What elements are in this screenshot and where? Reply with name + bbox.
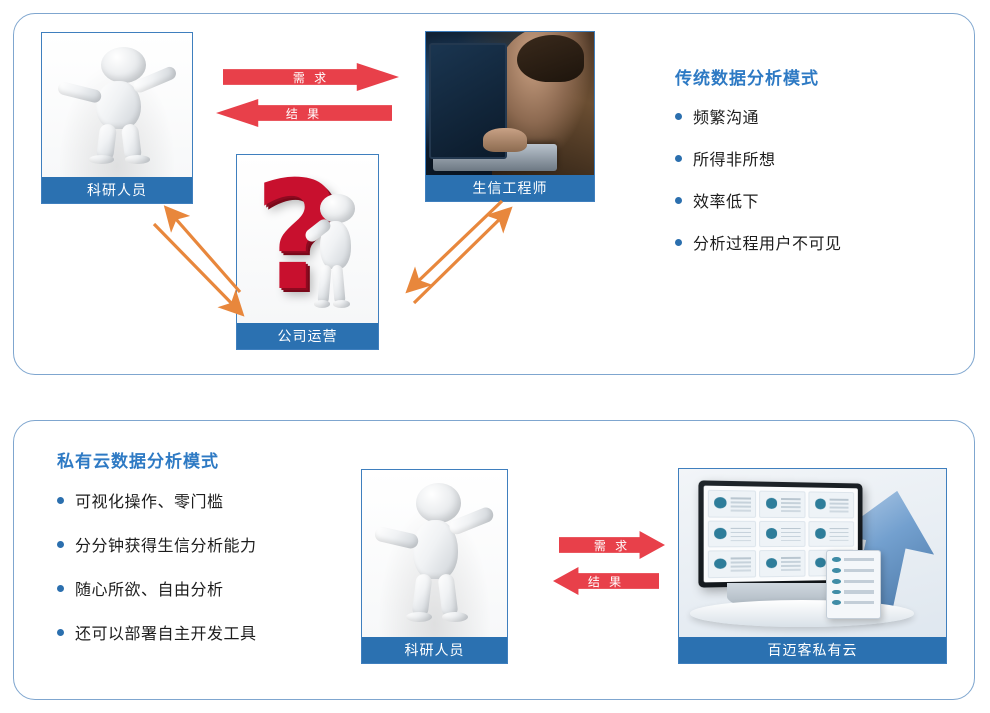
card-caption: 百迈客私有云: [679, 637, 946, 663]
engineer-photo: 10 1 0 1 0 1 0 1 0 1 0 1 0: [426, 32, 594, 175]
list-item-label: 还可以部署自主开发工具: [75, 620, 257, 644]
cloud-title: 私有云数据分析模式: [57, 447, 357, 472]
mannequin-figure-icon: [42, 33, 192, 177]
list-item-label: 分析过程用户不可见: [693, 230, 842, 254]
traditional-bullet-list: 频繁沟通 所得非所想 效率低下 分析过程用户不可见: [675, 95, 945, 263]
card-caption: 公司运营: [237, 323, 378, 349]
cloud-bullet-list: 可视化操作、零门槛 分分钟获得生信分析能力 随心所欲、自由分析 还可以部署自主开…: [57, 478, 357, 654]
list-item: 分析过程用户不可见: [675, 221, 945, 263]
card-caption: 科研人员: [362, 637, 507, 663]
researcher-illustration: [42, 33, 192, 177]
list-item: 频繁沟通: [675, 95, 945, 137]
card-researcher-top[interactable]: 科研人员: [41, 32, 193, 204]
list-item: 还可以部署自主开发工具: [57, 610, 357, 654]
card-caption: 科研人员: [42, 177, 192, 203]
bullet-dot-icon: [57, 585, 64, 592]
traditional-title: 传统数据分析模式: [675, 64, 945, 89]
list-item: 可视化操作、零门槛: [57, 478, 357, 522]
list-item-label: 随心所欲、自由分析: [75, 576, 224, 600]
bullet-dot-icon: [57, 629, 64, 636]
card-caption: 生信工程师: [426, 175, 594, 201]
bullet-dot-icon: [675, 239, 682, 246]
list-item: 分分钟获得生信分析能力: [57, 522, 357, 566]
tablet-icon: [826, 550, 881, 619]
list-item: 随心所欲、自由分析: [57, 566, 357, 610]
private-cloud-illustration: [679, 469, 946, 637]
mannequin-thinking-icon: [299, 189, 378, 320]
private-cloud-analysis-panel: 私有云数据分析模式 可视化操作、零门槛 分分钟获得生信分析能力 随心所欲、自由分…: [13, 420, 975, 700]
arrow-label: 结 果: [286, 105, 322, 122]
arrow-label: 结 果: [588, 573, 624, 590]
arrow-label: 需 求: [293, 69, 329, 86]
card-researcher-bottom[interactable]: 科研人员: [361, 469, 508, 664]
list-item-label: 可视化操作、零门槛: [75, 488, 224, 512]
list-item: 效率低下: [675, 179, 945, 221]
traditional-text-block: 传统数据分析模式 频繁沟通 所得非所想 效率低下 分析过程用户不可见: [675, 64, 945, 263]
list-item-label: 所得非所想: [693, 146, 776, 170]
bullet-dot-icon: [675, 197, 682, 204]
list-item-label: 效率低下: [693, 188, 759, 212]
bullet-dot-icon: [675, 155, 682, 162]
card-company-operations[interactable]: ? 公司运营: [236, 154, 379, 350]
card-private-cloud[interactable]: 百迈客私有云: [678, 468, 947, 664]
bullet-dot-icon: [675, 113, 682, 120]
list-item-label: 分分钟获得生信分析能力: [75, 532, 257, 556]
result-arrow-bottom: 结 果: [553, 567, 659, 595]
bullet-dot-icon: [57, 541, 64, 548]
card-bioinformatics-engineer[interactable]: 10 1 0 1 0 1 0 1 0 1 0 1 0: [425, 31, 595, 202]
question-mark-illustration: ?: [237, 155, 378, 323]
researcher-illustration: [362, 470, 507, 637]
cloud-text-block: 私有云数据分析模式 可视化操作、零门槛 分分钟获得生信分析能力 随心所欲、自由分…: [57, 447, 357, 654]
operations-engineer-arrows: [396, 189, 521, 309]
list-item: 所得非所想: [675, 137, 945, 179]
demand-arrow-bottom: 需 求: [559, 531, 665, 559]
result-arrow-top: 结 果: [216, 99, 392, 127]
demand-arrow-top: 需 求: [223, 63, 399, 91]
bullet-dot-icon: [57, 497, 64, 504]
mannequin-figure-icon: [362, 470, 507, 637]
arrow-label: 需 求: [594, 537, 630, 554]
list-item-label: 频繁沟通: [693, 104, 759, 128]
traditional-analysis-panel: 科研人员 ? 公司运营 10: [13, 13, 975, 375]
